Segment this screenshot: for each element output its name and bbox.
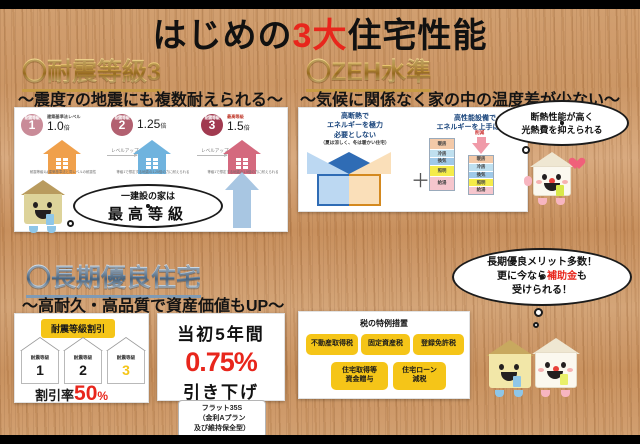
mascot-house-character-left — [21, 180, 65, 228]
grade-note-1: 耐震等級1は建築基準法と同レベルの耐震性 — [26, 170, 100, 175]
upward-arrow — [225, 172, 259, 228]
infographic-page: はじめの3大住宅性能 〇耐震等級3 〜震度7の地震にも複数耐えられる〜 耐震等級… — [0, 0, 640, 444]
heart-icon — [572, 158, 585, 170]
grade-value-3: 1.5倍 — [227, 119, 250, 133]
reduce-arrow-head — [472, 143, 490, 154]
headline-number: 3 — [293, 17, 313, 55]
flat35s-note: フラット35S （金利Aプラン 及び維持保全型） — [178, 400, 266, 438]
discount-house-2: 耐震等級 2 — [63, 338, 103, 384]
bubble-dot-3 — [534, 308, 543, 317]
discount-rate: 割引率50% — [35, 382, 108, 406]
discount-banner: 耐震等級割引 — [41, 319, 115, 338]
longterm-bubble-line2: 更に今なら補助金も — [497, 270, 587, 284]
discount-house-3: 耐震等級 3 — [106, 338, 146, 384]
tax-chip-loan[interactable]: 住宅ローン 減税 — [393, 362, 446, 390]
zeh-house-icon — [307, 152, 391, 206]
grade-badge-1: 耐震等級 1 — [21, 114, 43, 136]
zeh-left-text: 高断熱で エネルギーを極力 必要としない （夏は涼しく、冬は暖かい住宅） — [303, 112, 407, 147]
rate-panel: 当初5年間 0.75% 引き下げ — [157, 313, 285, 401]
reduce-label: 削減 — [475, 130, 484, 136]
grade-badge-2: 耐震等級 2 — [111, 114, 133, 136]
house-icon-grade-1 — [43, 140, 81, 174]
quake-bubble-line2: 最高等級 — [108, 203, 188, 224]
zeh-panel: 高断熱で エネルギーを極力 必要としない （夏は涼しく、冬は暖かい住宅） ＋ 高… — [298, 107, 528, 212]
plus-icon: ＋ — [411, 166, 430, 193]
rate-value: 0.75% — [158, 338, 284, 377]
zeh-bubble-line2: 光熱費を抑えられる — [521, 123, 602, 136]
longterm-bubble-line1: 長期優良メリット多数！ — [487, 256, 597, 270]
longterm-bubble-line3: 受けられる！ — [512, 284, 572, 298]
bubble-dot-4 — [533, 322, 539, 328]
mascot-house-character-yellow — [486, 340, 534, 392]
tax-chip-registration[interactable]: 登録免許税 — [413, 334, 464, 355]
grade-value-2: 1.25倍 — [137, 117, 166, 131]
grade-note-2: 等級1で想定する地震の1.25倍の力に耐えられる — [116, 170, 190, 175]
energy-bar-before: 暖房 冷房 換気 照明 給湯 — [429, 138, 455, 191]
section-subtitle-quake: 〜震度7の地震にも複数耐えられる〜 — [18, 86, 283, 110]
page-title: はじめの3大住宅性能 — [0, 8, 640, 57]
tax-panel: 税の特例措置 不動産取得税 固定資産税 登録免許税 住宅取得等 資金贈与 住宅ロ… — [298, 311, 470, 399]
bubble-dot-2 — [522, 146, 530, 154]
bubble-dot-1 — [67, 220, 74, 227]
headline-pre: はじめの — [153, 17, 293, 55]
house-icon-grade-2 — [133, 140, 171, 174]
discount-house-1: 耐震等級 1 — [20, 338, 60, 384]
zeh-thought-bubble: 断熱性能が高く 光熱費を抑えられる — [495, 100, 629, 146]
quake-thought-bubble: 一建設の家は 最高等級 — [73, 184, 223, 228]
grade-badge-3: 耐震等級 3 — [201, 114, 223, 136]
discount-panel: 耐震等級割引 耐震等級 1 耐震等級 2 耐震等級 3 割引率50% — [14, 313, 149, 403]
grade-value-1: 1.0倍 — [47, 119, 70, 133]
letterbox-bottom — [0, 435, 640, 444]
quake-panel: 耐震等級 1 建築基準法レベル 1.0倍 耐震等級1は建築基準法と同レベルの耐震… — [14, 107, 288, 232]
mascot-house-character-white — [532, 338, 580, 392]
tax-chip-gift[interactable]: 住宅取得等 資金贈与 — [331, 362, 388, 390]
section-subtitle-longterm: 〜高耐久・高品質で資産価値もUP〜 — [22, 292, 284, 316]
zeh-bubble-line1: 断熱性能が高く — [530, 110, 593, 123]
tax-chip-acquisition[interactable]: 不動産取得税 — [306, 334, 358, 355]
letterbox-top — [0, 0, 640, 9]
quake-bubble-line1: 一建設の家は — [121, 189, 175, 202]
tax-panel-title: 税の特例措置 — [299, 318, 469, 329]
headline-mid: 大 — [312, 17, 347, 55]
energy-bar-after: 暖房 冷房 換気 照明 給湯 — [468, 155, 494, 195]
house-icon-grade-3 — [223, 140, 261, 174]
longterm-thought-bubble: 長期優良メリット多数！ 更に今なら補助金も 受けられる！ — [452, 248, 632, 306]
headline-post: 住宅性能 — [347, 17, 487, 55]
mascot-house-character-zeh — [530, 152, 574, 200]
tax-chip-fixed-asset[interactable]: 固定資産税 — [361, 334, 410, 355]
